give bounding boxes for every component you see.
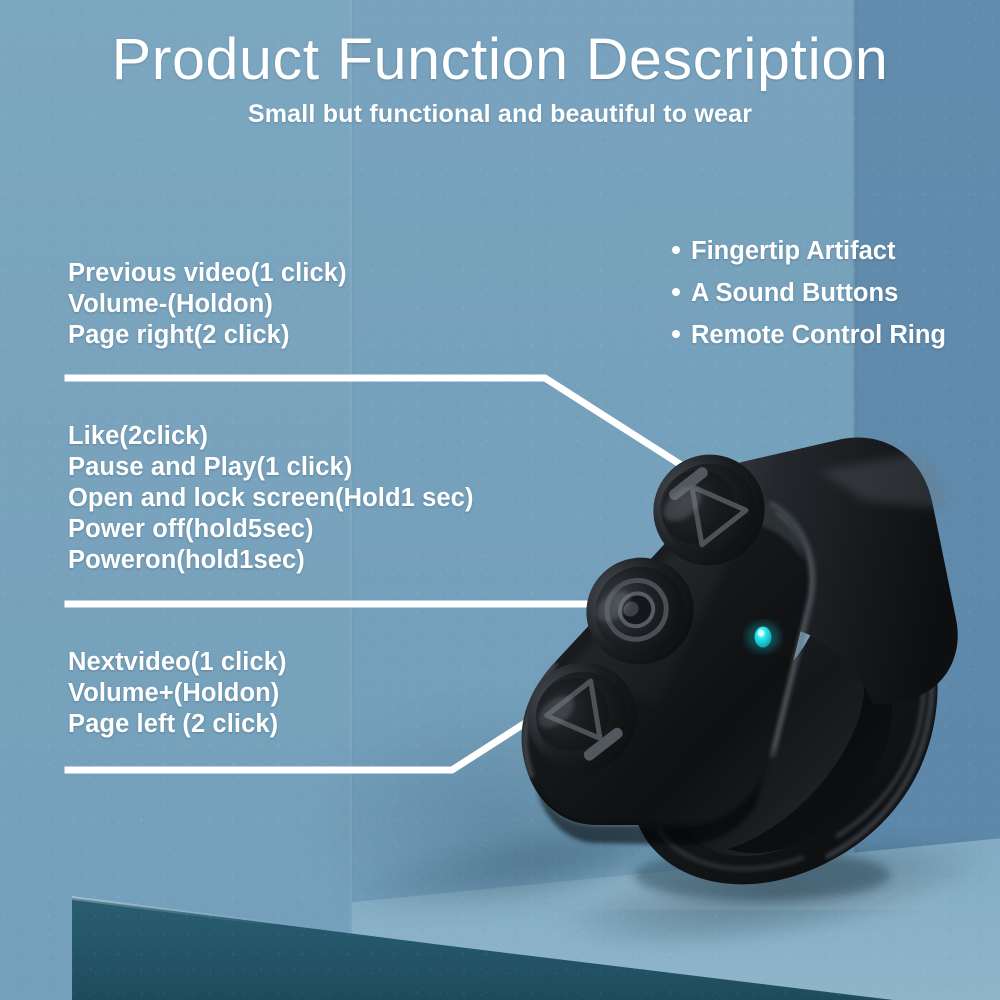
bullet-dot-icon [672,246,680,254]
callout-line: Open and lock screen(Hold1 sec) [68,483,474,514]
callout-line: Previous video(1 click) [68,258,347,289]
callout-line: Page right(2 click) [68,320,347,351]
callout-line: Power off(hold5sec) [68,514,474,545]
feature-bullet-item: Remote Control Ring [672,314,946,356]
feature-bullet-item: Fingertip Artifact [672,230,946,272]
callout-line: Volume+(Holdon) [68,678,287,709]
callout-line: Pause and Play(1 click) [68,452,474,483]
callout-line: Nextvideo(1 click) [68,647,287,678]
feature-label: Fingertip Artifact [691,237,895,265]
feature-bullet-item: A Sound Buttons [672,272,946,314]
status-led [746,622,780,652]
callout-block-top: Previous video(1 click) Volume-(Holdon) … [68,258,347,351]
bullet-dot-icon [672,330,680,338]
page-subtitle: Small but functional and beautiful to we… [0,100,1000,129]
callout-block-middle: Like(2click) Pause and Play(1 click) Ope… [68,421,474,576]
callout-line: Volume-(Holdon) [68,289,347,320]
bullet-dot-icon [672,288,680,296]
callout-block-bottom: Nextvideo(1 click) Volume+(Holdon) Page … [68,647,287,740]
product-infographic: Product Function Description Small but f… [0,0,1000,1000]
page-title: Product Function Description [0,26,1000,93]
feature-bullet-list: Fingertip Artifact A Sound Buttons Remot… [672,230,946,356]
callout-line: Page left (2 click) [68,709,287,740]
callout-line: Poweron(hold1sec) [68,545,474,576]
product-image-remote-ring [470,405,1000,925]
feature-label: Remote Control Ring [691,321,946,349]
callout-line: Like(2click) [68,421,474,452]
feature-label: A Sound Buttons [691,279,898,307]
